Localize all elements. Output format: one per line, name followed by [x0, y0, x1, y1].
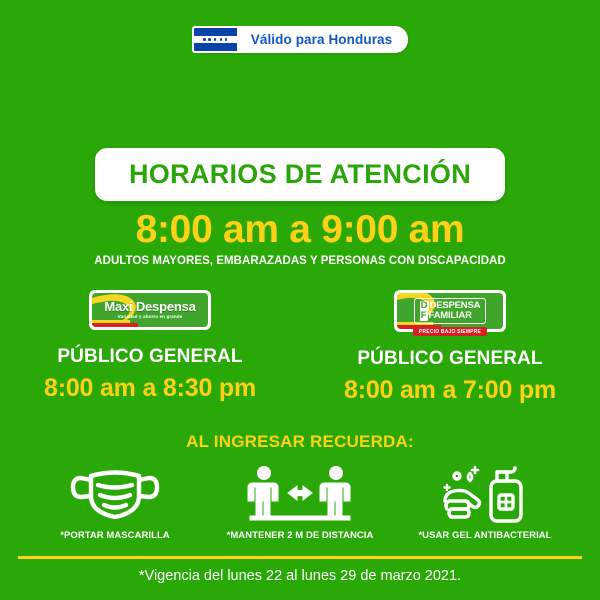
footer-divider — [18, 556, 582, 559]
reminder-caption: *USAR GEL ANTIBACTERIAL — [418, 530, 551, 541]
validity-country-badge-row: Válido para Honduras — [0, 26, 600, 53]
maxi-despensa-logo-tagline: Variedad y ahorro en grande — [104, 315, 195, 320]
flag-stripe-bottom — [194, 43, 237, 51]
flag-star — [214, 38, 217, 41]
store-despensa-familiar: D DESPENSA F FAMILIAR PRECIO BAJO SIEMPR… — [300, 290, 600, 405]
despensa-familiar-hours: 8:00 am a 7:00 pm — [344, 376, 556, 405]
hand-sanitizer-icon — [433, 462, 537, 524]
logo-bar-red — [92, 323, 138, 327]
honduras-flag-icon — [192, 26, 239, 53]
maxi-despensa-logo-name: Maxi Despensa — [104, 300, 195, 313]
despensa-familiar-logo-banner: PRECIO BAJO SIEMPRE — [413, 327, 487, 336]
page-title-pill: HORARIOS DE ATENCIÓN — [95, 148, 505, 201]
page-title: HORARIOS DE ATENCIÓN — [129, 159, 471, 190]
footer-validity-text: *Vigencia del lunes 22 al lunes 29 de ma… — [0, 568, 600, 584]
reminder-caption: *PORTAR MASCARILLA — [60, 530, 169, 541]
face-mask-icon — [67, 462, 163, 524]
validity-country-label: Válido para Honduras — [251, 32, 393, 47]
despensa-familiar-logo-line2: FAMILIAR — [429, 311, 472, 321]
store-hours-section: Maxi Despensa Variedad y ahorro en grand… — [0, 290, 600, 405]
maxi-despensa-logo: Maxi Despensa Variedad y ahorro en grand… — [89, 290, 211, 330]
maxi-despensa-audience-label: PÚBLICO GENERAL — [57, 346, 242, 368]
reminder-social-distance: *MANTENER 2 M DE DISTANCIA — [213, 462, 388, 541]
flag-star — [203, 38, 206, 41]
flag-stripe-top — [194, 28, 237, 36]
despensa-familiar-audience-label: PÚBLICO GENERAL — [357, 348, 542, 370]
validity-country-badge: Válido para Honduras — [192, 26, 409, 53]
reminders-title: AL INGRESAR RECUERDA: — [0, 432, 600, 452]
priority-hours-time: 8:00 am a 9:00 am — [0, 208, 600, 252]
flag-star — [220, 38, 223, 41]
maxi-despensa-hours: 8:00 am a 8:30 pm — [44, 374, 256, 403]
reminders-row: *PORTAR MASCARILLA *MANTENER 2 M DE DIST… — [0, 462, 600, 541]
despensa-familiar-logo: D DESPENSA F FAMILIAR PRECIO BAJO SIEMPR… — [394, 290, 506, 332]
flag-star — [225, 38, 228, 41]
reminder-caption: *MANTENER 2 M DE DISTANCIA — [227, 530, 374, 541]
reminder-face-mask: *PORTAR MASCARILLA — [28, 462, 203, 541]
reminder-hand-sanitizer: *USAR GEL ANTIBACTERIAL — [398, 462, 573, 541]
logo-initial-f: F — [420, 311, 428, 321]
store-maxi-despensa: Maxi Despensa Variedad y ahorro en grand… — [0, 290, 300, 405]
priority-hours-audience: ADULTOS MAYORES, EMBARAZADAS Y PERSONAS … — [0, 255, 600, 267]
flag-stars — [194, 36, 237, 44]
social-distance-icon — [244, 462, 356, 524]
flag-star — [208, 38, 211, 41]
